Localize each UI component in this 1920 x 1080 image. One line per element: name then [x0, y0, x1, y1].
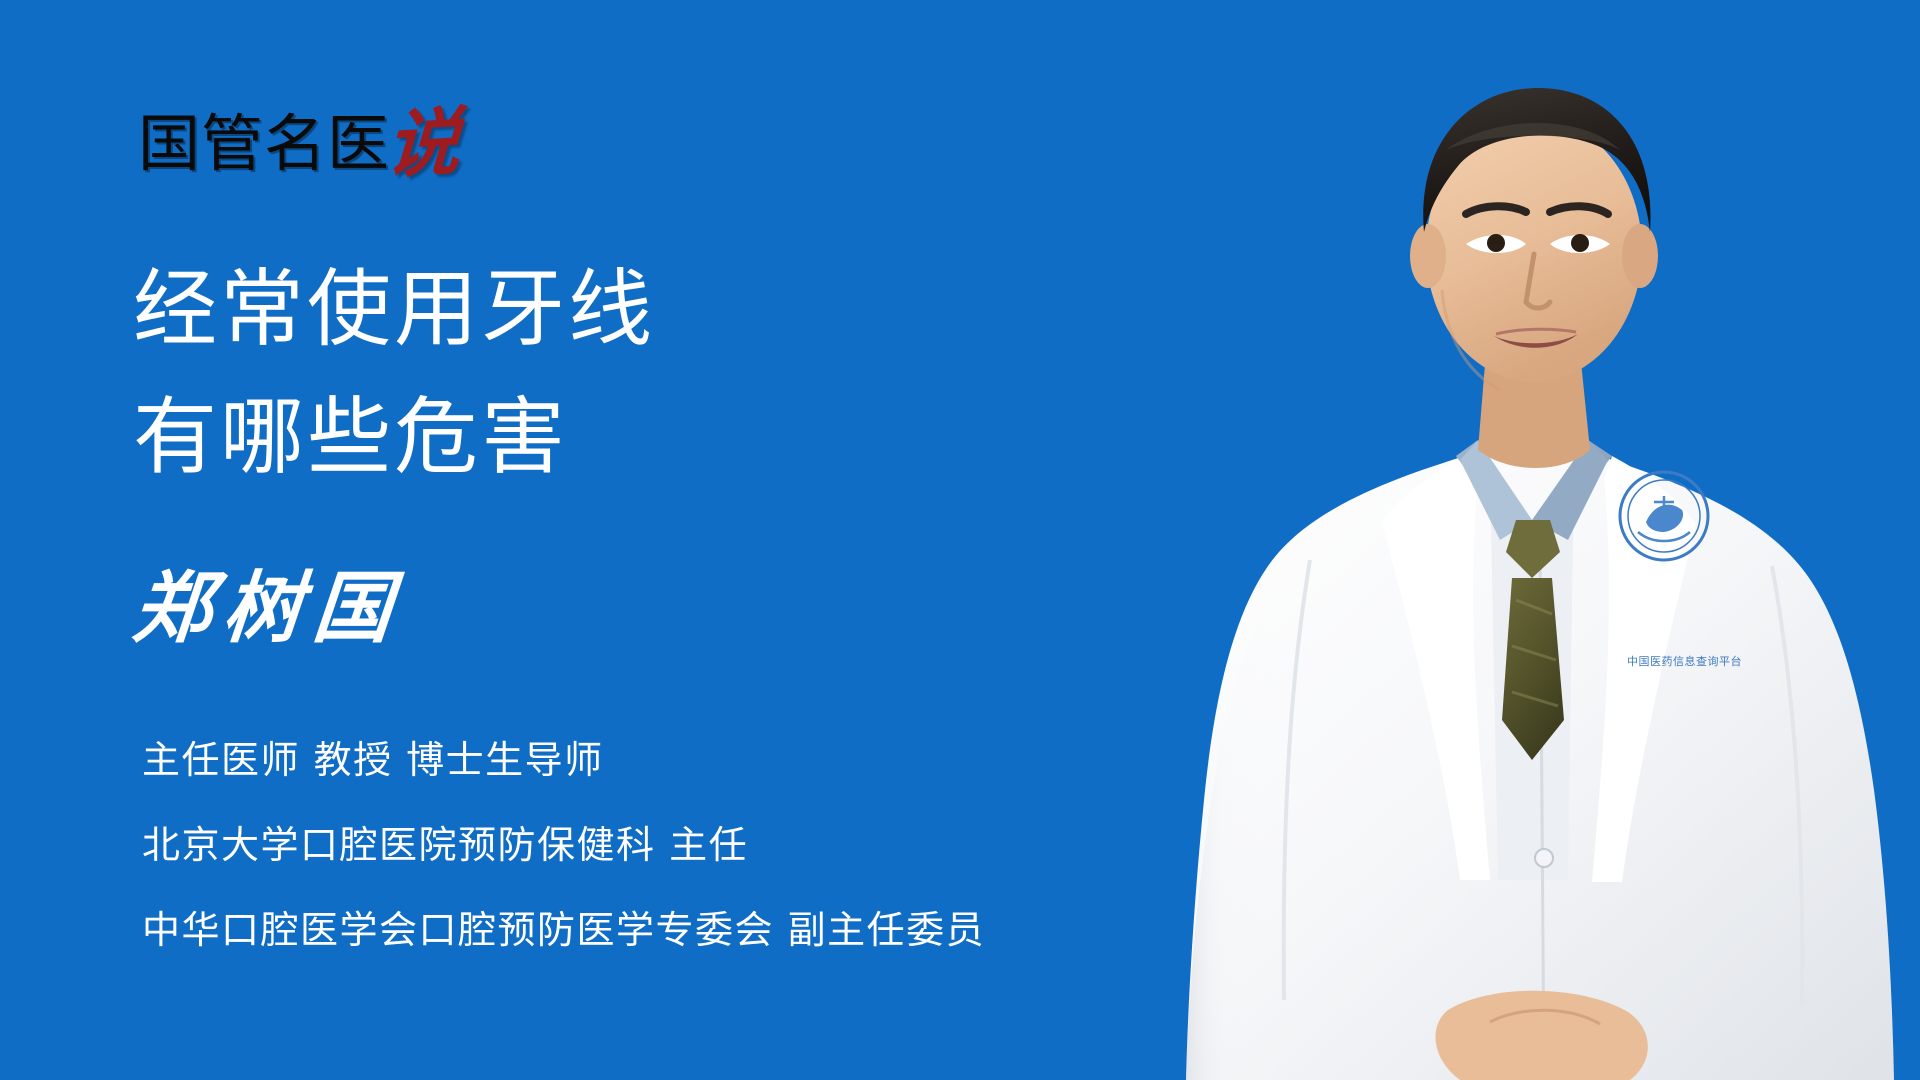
program-logo-accent-text: 说 — [384, 107, 462, 181]
necktie — [1502, 520, 1564, 760]
doctor-portrait-photo — [1160, 0, 1920, 1080]
program-logo: 国管名医 说 — [138, 95, 458, 175]
poster-text-column: 国管名医 说 经常使用牙线 有哪些危害 郑树国 主任医师 教授 博士生导师 北京… — [0, 0, 1230, 1080]
credential-line-1: 主任医师 教授 博士生导师 — [142, 718, 985, 803]
head — [1410, 88, 1658, 390]
headline-line-1: 经常使用牙线 — [133, 245, 655, 373]
coat-badge-caption: 中国医药信息查询平台 — [1627, 653, 1742, 669]
credential-line-3: 中华口腔医学会口腔预防医学专委会 副主任委员 — [142, 888, 985, 973]
credential-line-2: 北京大学口腔医院预防保健科 主任 — [142, 803, 985, 888]
doctor-credentials-block: 主任医师 教授 博士生导师 北京大学口腔医院预防保健科 主任 中华口腔医学会口腔… — [142, 718, 985, 973]
headline-line-2: 有哪些危害 — [133, 373, 655, 501]
headline-block: 经常使用牙线 有哪些危害 — [133, 245, 655, 501]
program-logo-main-text: 国管名医 — [138, 113, 390, 175]
doctor-name: 郑树国 — [130, 570, 407, 648]
video-cover-poster: 国管名医 说 经常使用牙线 有哪些危害 郑树国 主任医师 教授 博士生导师 北京… — [0, 0, 1920, 1080]
